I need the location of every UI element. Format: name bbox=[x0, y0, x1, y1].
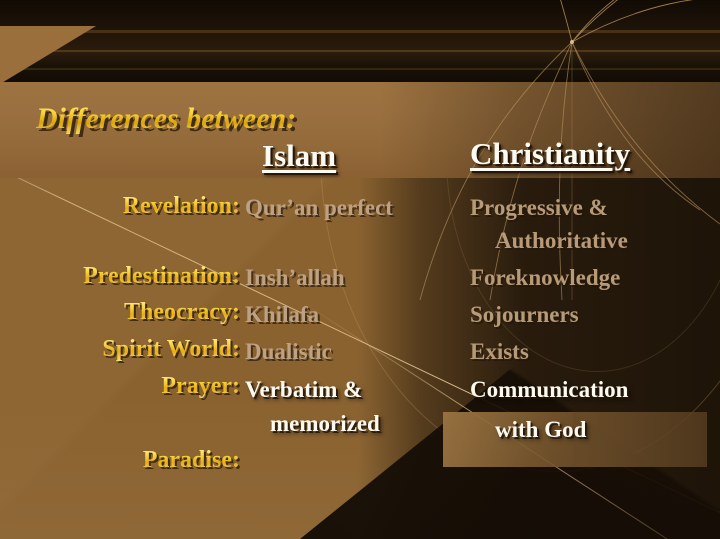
row-label-predestination: Predestination: bbox=[0, 264, 240, 288]
row-value-islam-spirit-world: Dualistic bbox=[245, 340, 332, 363]
row-label-spirit-world: Spirit World: bbox=[0, 337, 240, 361]
row-label-theocracy: Theocracy: bbox=[0, 300, 240, 324]
row-value-islam-prayer-line2: memorized bbox=[270, 412, 380, 435]
row-value-islam-prayer-line1: Verbatim & bbox=[245, 378, 362, 401]
row-value-christianity-prayer-line2: with God bbox=[495, 418, 586, 441]
row-value-islam-theocracy: Khilafa bbox=[245, 303, 319, 326]
row-label-revelation: Revelation: bbox=[0, 194, 240, 218]
row-value-christianity-revelation-line2: Authoritative bbox=[495, 229, 628, 252]
presentation-slide: Differences between: Islam Christianity … bbox=[0, 0, 720, 539]
row-value-christianity-prayer-line1: Communication bbox=[470, 378, 628, 401]
row-label-prayer: Prayer: bbox=[0, 374, 240, 398]
row-value-christianity-theocracy: Sojourners bbox=[470, 303, 579, 326]
column-header-islam: Islam bbox=[262, 140, 336, 171]
row-label-paradise: Paradise: bbox=[0, 448, 240, 472]
column-header-christianity: Christianity bbox=[470, 138, 630, 169]
row-value-christianity-predestination: Foreknowledge bbox=[470, 266, 620, 289]
row-value-islam-revelation: Qur’an perfect bbox=[245, 196, 393, 219]
slide-title: Differences between: bbox=[36, 104, 296, 134]
row-value-islam-predestination: Insh’allah bbox=[245, 266, 345, 289]
row-value-christianity-revelation-line1: Progressive & bbox=[470, 196, 608, 219]
row-value-christianity-spirit-world: Exists bbox=[470, 340, 529, 363]
